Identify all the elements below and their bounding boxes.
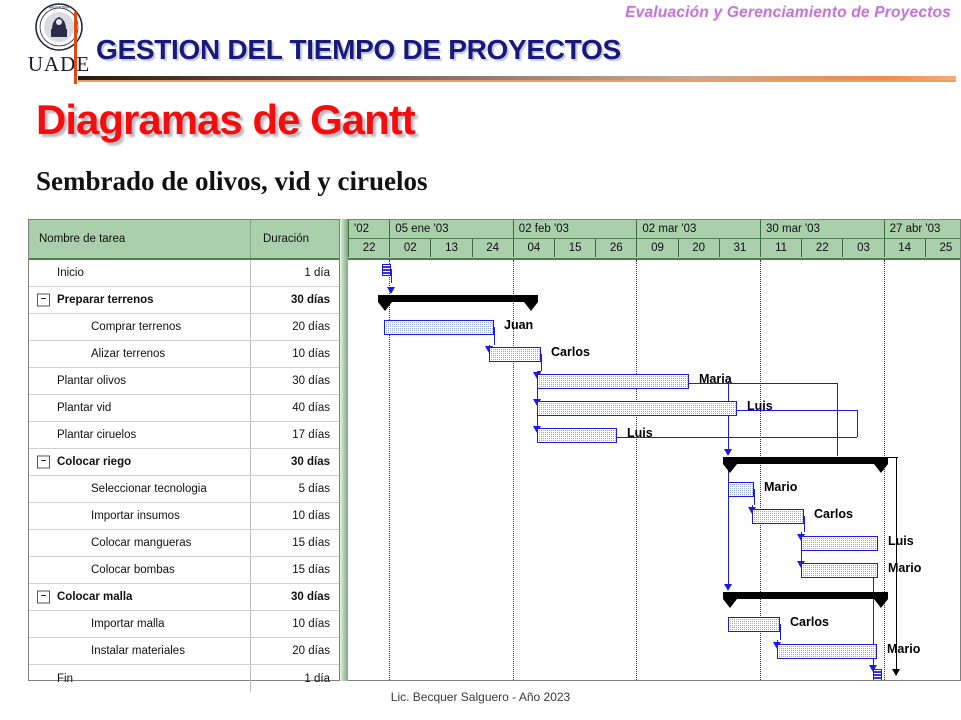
page-title: Diagramas de Gantt — [36, 96, 415, 144]
task-name-label: Inicio — [29, 267, 84, 279]
column-header-task-name[interactable]: Nombre de tarea — [29, 220, 251, 258]
gantt-task-bar[interactable] — [537, 374, 689, 389]
task-name-label: Fin — [29, 673, 73, 685]
task-name-cell[interactable]: −Colocar malla — [29, 584, 251, 610]
resource-label: Juan — [504, 318, 533, 332]
timescale-minor-tick: 26 — [595, 239, 636, 257]
gantt-milestone-marker[interactable] — [382, 264, 391, 276]
gantt-task-bar[interactable] — [489, 347, 541, 362]
task-duration-cell[interactable]: 30 días — [251, 449, 339, 475]
svg-text:ARGENTINA: ARGENTINA — [49, 6, 70, 10]
timescale-minor-tick: 22 — [348, 239, 389, 257]
timeline-header: '0205 ene '0302 feb '0302 mar '0330 mar … — [348, 220, 960, 260]
timescale-major-tick: 27 abr '03 — [884, 220, 960, 238]
task-name-cell[interactable]: Seleccionar tecnologia — [29, 476, 251, 502]
task-name-cell[interactable]: Importar malla — [29, 611, 251, 637]
timescale-minor-tick: 04 — [513, 239, 554, 257]
task-name-cell[interactable]: Comprar terrenos — [29, 314, 251, 340]
timescale-minor-tick: 02 — [389, 239, 430, 257]
table-split-bar[interactable] — [340, 219, 348, 681]
collapse-toggle-icon[interactable]: − — [37, 591, 50, 604]
gantt-row — [348, 584, 961, 611]
task-duration-cell[interactable]: 20 días — [251, 314, 339, 340]
task-name-cell[interactable]: −Colocar riego — [29, 449, 251, 475]
task-duration-cell[interactable]: 1 día — [251, 260, 339, 286]
task-duration-cell[interactable]: 5 días — [251, 476, 339, 502]
gantt-task-bar[interactable] — [537, 428, 617, 443]
gantt-row — [348, 287, 961, 314]
gantt-chart: Nombre de tarea Duración Inicio1 día−Pre… — [28, 219, 961, 681]
timescale-major-tick: 30 mar '03 — [760, 220, 884, 238]
task-duration-cell[interactable]: 20 días — [251, 638, 339, 664]
table-row[interactable]: Plantar olivos30 días — [29, 368, 339, 395]
gantt-row: Juan — [348, 314, 961, 341]
resource-label: Carlos — [814, 507, 853, 521]
gantt-summary-bar[interactable] — [723, 457, 888, 464]
collapse-toggle-icon[interactable]: − — [37, 456, 50, 469]
task-duration-cell[interactable]: 40 días — [251, 395, 339, 421]
resource-label: Mario — [888, 561, 921, 575]
task-name-label: Plantar olivos — [29, 375, 126, 387]
task-duration-cell[interactable]: 10 días — [251, 503, 339, 529]
task-duration-cell[interactable]: 10 días — [251, 341, 339, 367]
resource-label: Carlos — [790, 615, 829, 629]
resource-label: Luis — [888, 534, 914, 548]
timescale-major-tick: '02 — [348, 220, 389, 238]
gantt-row: Carlos — [348, 341, 961, 368]
task-name-cell[interactable]: Fin — [29, 665, 251, 692]
task-name-cell[interactable]: Plantar olivos — [29, 368, 251, 394]
task-duration-cell[interactable]: 15 días — [251, 557, 339, 583]
table-row[interactable]: −Preparar terrenos30 días — [29, 287, 339, 314]
table-row[interactable]: Plantar ciruelos17 días — [29, 422, 339, 449]
task-name-cell[interactable]: Plantar vid — [29, 395, 251, 421]
timescale-minor-tick: 31 — [719, 239, 760, 257]
task-duration-cell[interactable]: 10 días — [251, 611, 339, 637]
table-row[interactable]: Instalar materiales20 días — [29, 638, 339, 665]
resource-label: Mario — [887, 642, 920, 656]
task-name-label: Comprar terrenos — [29, 321, 181, 333]
column-header-duration[interactable]: Duración — [251, 220, 339, 258]
page-subtitle: Sembrado de olivos, vid y ciruelos — [36, 166, 428, 197]
resource-label: Luis — [747, 399, 773, 413]
task-name-cell[interactable]: Alizar terrenos — [29, 341, 251, 367]
timescale-minor-tick: 09 — [636, 239, 677, 257]
uade-logo: ARGENTINA UADE — [8, 2, 110, 76]
table-row[interactable]: −Colocar riego30 días — [29, 449, 339, 476]
gantt-row: Carlos — [348, 503, 961, 530]
banner-title: GESTION DEL TIEMPO DE PROYECTOS — [96, 34, 621, 66]
task-duration-cell[interactable]: 15 días — [251, 530, 339, 556]
gantt-row: Luis — [348, 422, 961, 449]
timescale-minor-tick: 22 — [801, 239, 842, 257]
task-name-label: Plantar vid — [29, 402, 111, 414]
task-name-cell[interactable]: Instalar materiales — [29, 638, 251, 664]
timescale-major-tick: 05 ene '03 — [389, 220, 513, 238]
resource-label: Carlos — [551, 345, 590, 359]
table-row[interactable]: Inicio1 día — [29, 260, 339, 287]
resource-label: Mario — [764, 480, 797, 494]
gantt-task-bar[interactable] — [728, 482, 754, 497]
gantt-task-bar[interactable] — [801, 536, 878, 551]
task-table-header: Nombre de tarea Duración — [29, 220, 339, 260]
gantt-row — [348, 665, 961, 681]
table-row[interactable]: Comprar terrenos20 días — [29, 314, 339, 341]
timescale-major-tick: 02 mar '03 — [636, 220, 760, 238]
task-name-label: Colocar bombas — [29, 564, 175, 576]
table-row[interactable]: Seleccionar tecnologia5 días — [29, 476, 339, 503]
timescale-minor-tick: 03 — [842, 239, 883, 257]
timeline-body[interactable]: JuanCarlosMariaLuisLuisMarioCarlosLuisMa… — [348, 260, 960, 681]
task-name-cell[interactable]: Plantar ciruelos — [29, 422, 251, 448]
gantt-row — [348, 449, 961, 476]
gantt-row: Maria — [348, 368, 961, 395]
gantt-task-bar[interactable] — [384, 320, 494, 335]
table-row[interactable]: Importar malla10 días — [29, 611, 339, 638]
task-name-label: Importar insumos — [29, 510, 180, 522]
timescale-major-tick: 02 feb '03 — [513, 220, 637, 238]
task-table[interactable]: Nombre de tarea Duración Inicio1 día−Pre… — [28, 219, 340, 681]
gantt-row: Mario — [348, 638, 961, 665]
task-name-cell[interactable]: Colocar mangueras — [29, 530, 251, 556]
task-name-label: Seleccionar tecnologia — [29, 483, 207, 495]
table-row[interactable]: Colocar bombas15 días — [29, 557, 339, 584]
gantt-row: Luis — [348, 395, 961, 422]
gantt-row: Carlos — [348, 611, 961, 638]
gantt-summary-bar[interactable] — [723, 592, 888, 599]
timeline-major-scale: '0205 ene '0302 feb '0302 mar '0330 mar … — [348, 220, 960, 239]
gantt-task-bar[interactable] — [777, 644, 877, 659]
task-duration-cell[interactable]: 17 días — [251, 422, 339, 448]
gantt-summary-bar[interactable] — [378, 295, 538, 302]
gantt-task-bar[interactable] — [537, 401, 737, 416]
header-vertical-rule — [74, 12, 77, 84]
course-tag: Evaluación y Gerenciamiento de Proyectos — [625, 4, 951, 22]
table-row[interactable]: −Colocar malla30 días — [29, 584, 339, 611]
timescale-minor-tick: 14 — [884, 239, 925, 257]
gantt-task-bar[interactable] — [752, 509, 804, 524]
timescale-minor-tick: 13 — [430, 239, 471, 257]
resource-label: Maria — [699, 372, 732, 386]
task-duration-cell[interactable]: 1 día — [251, 665, 339, 692]
gantt-row: Mario — [348, 476, 961, 503]
timescale-minor-tick: 11 — [760, 239, 801, 257]
task-duration-cell[interactable]: 30 días — [251, 287, 339, 313]
uade-logo-text: UADE — [8, 53, 110, 75]
gantt-row — [348, 260, 961, 287]
gantt-row: Mario — [348, 557, 961, 584]
header-divider-accent — [78, 80, 956, 82]
task-name-cell[interactable]: Colocar bombas — [29, 557, 251, 583]
table-row[interactable]: Plantar vid40 días — [29, 395, 339, 422]
task-name-label: Instalar materiales — [29, 645, 185, 657]
resource-label: Luis — [627, 426, 653, 440]
task-duration-cell[interactable]: 30 días — [251, 584, 339, 610]
timescale-minor-tick: 20 — [678, 239, 719, 257]
slide-header: ARGENTINA UADE Evaluación y Gerenciamien… — [0, 0, 961, 88]
table-row[interactable]: Importar insumos10 días — [29, 503, 339, 530]
timeline-minor-scale: 2202132404152609203111220314250 — [348, 239, 960, 258]
task-name-cell[interactable]: Inicio — [29, 260, 251, 286]
timeline-pane[interactable]: '0205 ene '0302 feb '0302 mar '0330 mar … — [348, 219, 961, 681]
table-row[interactable]: Colocar mangueras15 días — [29, 530, 339, 557]
timescale-minor-tick: 24 — [472, 239, 513, 257]
gantt-row: Luis — [348, 530, 961, 557]
table-row[interactable]: Fin1 día — [29, 665, 339, 692]
task-name-label: Alizar terrenos — [29, 348, 165, 360]
task-name-cell[interactable]: Importar insumos — [29, 503, 251, 529]
task-name-label: Importar malla — [29, 618, 165, 630]
task-name-label: Plantar ciruelos — [29, 429, 136, 441]
task-name-cell[interactable]: −Preparar terrenos — [29, 287, 251, 313]
task-duration-cell[interactable]: 30 días — [251, 368, 339, 394]
timescale-minor-tick: 15 — [554, 239, 595, 257]
timescale-minor-tick: 25 — [925, 239, 960, 257]
gantt-milestone-marker[interactable] — [873, 669, 882, 681]
slide-footer: Lic. Becquer Salguero - Año 2023 — [0, 690, 961, 704]
table-row[interactable]: Alizar terrenos10 días — [29, 341, 339, 368]
gantt-task-bar[interactable] — [801, 563, 878, 578]
task-name-label: Colocar mangueras — [29, 537, 191, 549]
gantt-task-bar[interactable] — [728, 617, 780, 632]
collapse-toggle-icon[interactable]: − — [37, 294, 50, 307]
